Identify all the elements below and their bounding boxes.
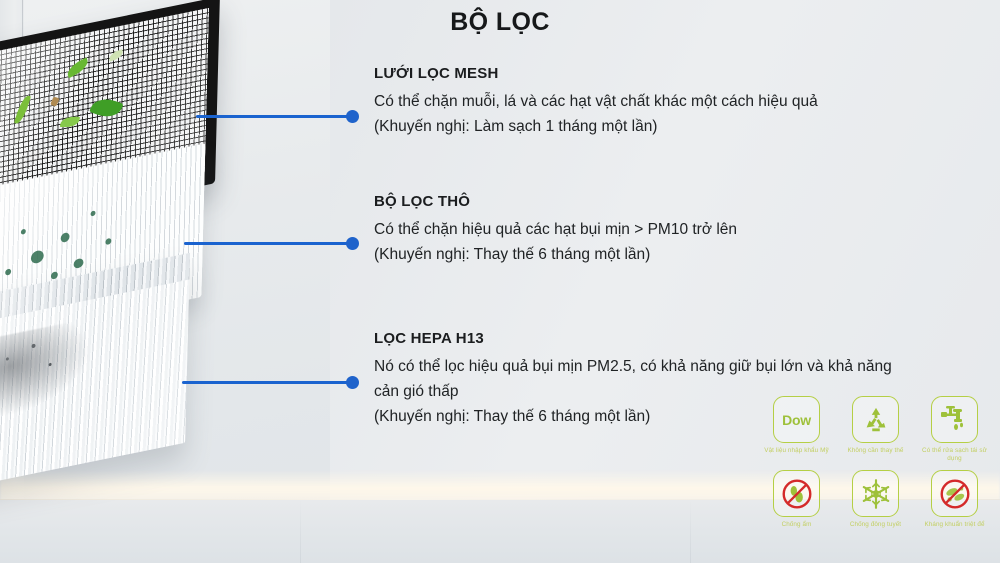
badge-caption: Chống ẩm	[762, 521, 831, 529]
snowflake-icon	[852, 470, 899, 517]
badge-caption: Vật liệu nhập khẩu Mỹ	[762, 447, 831, 455]
page-title: BỘ LỌC	[0, 8, 1000, 37]
layer-description-prefilter: BỘ LỌC THÔ Có thể chặn hiệu quả các hạt …	[374, 193, 737, 267]
layer-description-mesh: LƯỚI LỌC MESH Có thể chặn muỗi, lá và cá…	[374, 65, 818, 139]
feature-badge-antibacterial: Kháng khuẩn triệt để	[920, 470, 989, 529]
floor-tile-line	[690, 500, 691, 563]
feature-badge-dow: Dow Vật liệu nhập khẩu Mỹ	[762, 396, 831, 463]
badge-caption: Chống đông tuyết	[841, 521, 910, 529]
badge-caption: Không cần thay thế	[841, 447, 910, 455]
layer-heading-mesh: LƯỚI LỌC MESH	[374, 65, 818, 82]
layer-text-hepa: Nó có thể lọc hiệu quả bụi mịn PM2.5, có…	[374, 354, 892, 379]
leader-dot-mesh	[346, 110, 359, 123]
filter-stack-illustration	[0, 24, 346, 494]
recycle-icon	[852, 396, 899, 443]
layer-text-prefilter: Có thể chặn hiệu quả các hạt bụi mịn > P…	[374, 217, 737, 242]
dow-logo-icon: Dow	[773, 396, 820, 443]
leader-dot-prefilter	[346, 237, 359, 250]
layer-text-mesh: Có thể chặn muỗi, lá và các hạt vật chất…	[374, 89, 818, 114]
faucet-water-icon	[931, 396, 978, 443]
leader-line-hepa	[182, 381, 356, 384]
no-bacteria-icon	[931, 470, 978, 517]
filter-infographic: BỘ LỌC LƯỚI LỌC MESH Có thể chặn muỗi, l…	[0, 0, 1000, 563]
hepa-filter-sheen	[0, 253, 190, 492]
feature-badge-moisture-proof: Chống ẩm	[762, 470, 831, 529]
badge-caption: Có thể rửa sạch tái sử dụng	[920, 447, 989, 463]
layer-recommendation-prefilter: (Khuyến nghị: Thay thế 6 tháng một lần)	[374, 242, 737, 267]
dow-logo-text: Dow	[782, 412, 811, 428]
feature-badge-grid: Dow Vật liệu nhập khẩu Mỹ Không cầ	[762, 396, 990, 536]
no-moisture-icon	[773, 470, 820, 517]
layer-recommendation-mesh: (Khuyến nghị: Làm sạch 1 tháng một lần)	[374, 114, 818, 139]
feature-badge-washable: Có thể rửa sạch tái sử dụng	[920, 396, 989, 463]
hepa-filter-layer	[0, 253, 190, 492]
leader-line-prefilter	[184, 242, 356, 245]
leader-line-mesh	[196, 115, 356, 118]
floor-tile-line	[300, 500, 301, 563]
layer-heading-hepa: LỌC HEPA H13	[374, 330, 892, 347]
layer-heading-prefilter: BỘ LỌC THÔ	[374, 193, 737, 210]
feature-badge-no-replace: Không cần thay thế	[841, 396, 910, 463]
badge-caption: Kháng khuẩn triệt để	[920, 521, 989, 529]
feature-badge-row-1: Dow Vật liệu nhập khẩu Mỹ Không cầ	[762, 396, 990, 463]
feature-badge-frost-proof: Chống đông tuyết	[841, 470, 910, 529]
feature-badge-row-2: Chống ẩm	[762, 470, 990, 529]
leader-dot-hepa	[346, 376, 359, 389]
